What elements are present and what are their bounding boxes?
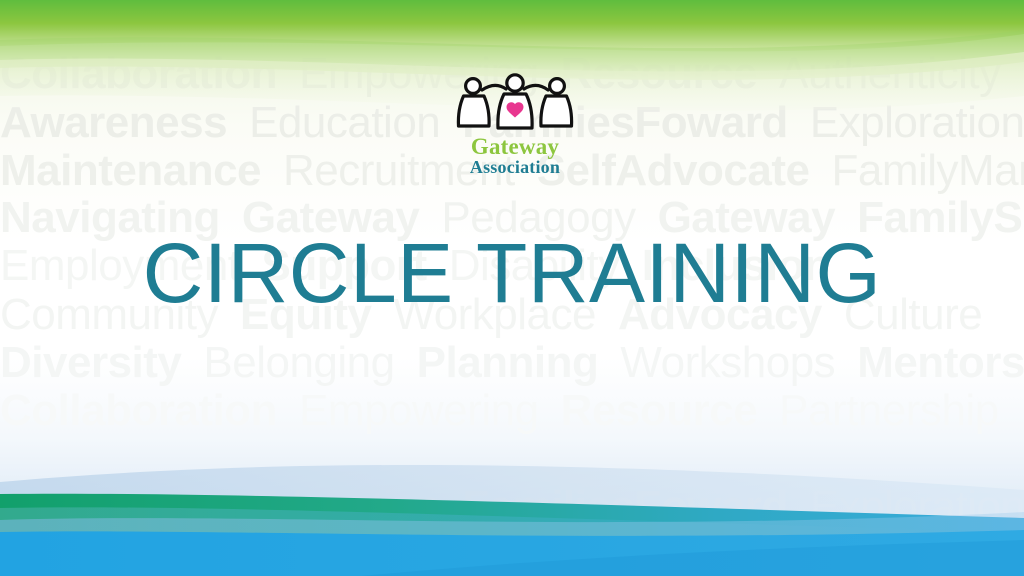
logo-name-association: Association	[449, 158, 581, 177]
logo-name-gateway: Gateway	[449, 135, 581, 158]
presentation-slide: CollaborationEmpoweringResourceAuthentic…	[0, 0, 1024, 576]
three-people-holding-hands-with-heart-icon	[449, 72, 581, 134]
bottom-wave-decoration	[0, 446, 1024, 576]
slide-title: CIRCLE TRAINING	[0, 227, 1024, 319]
gateway-association-logo: Gateway Association	[449, 72, 581, 176]
